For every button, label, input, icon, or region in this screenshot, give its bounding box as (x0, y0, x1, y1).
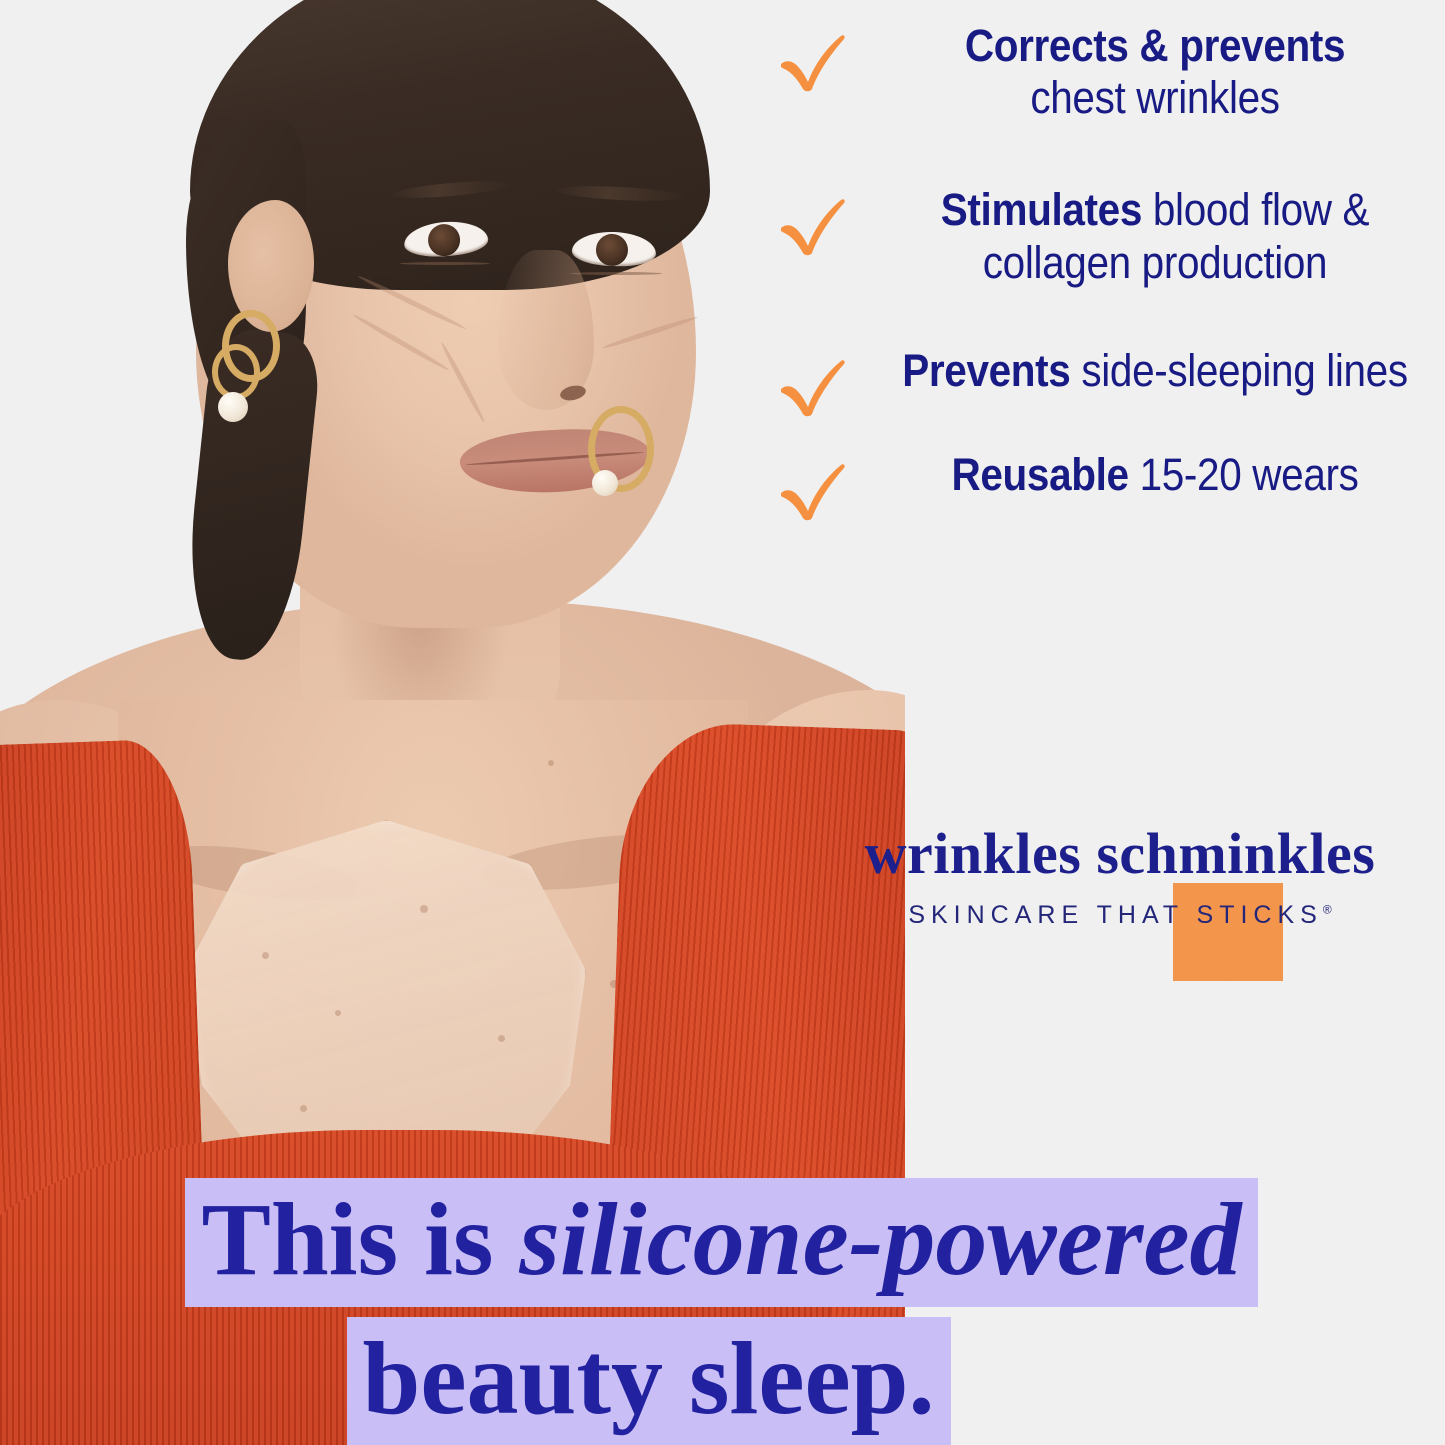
under-eye-line-left (400, 262, 490, 265)
skin-freckle (548, 760, 554, 766)
skin-freckle (335, 1010, 341, 1016)
benefit-text: Prevents side-sleeping lines (894, 345, 1416, 397)
earring-pearl-left (218, 392, 248, 422)
headline-text-plain: This is (201, 1182, 519, 1297)
registered-mark: ® (1323, 903, 1332, 917)
benefit-bold: Corrects & prevents (965, 20, 1345, 71)
check-icon (777, 194, 849, 256)
benefit-rest: chest wrinkles (1030, 72, 1279, 123)
headline-line-1: This is silicone-powered (0, 1178, 1445, 1307)
benefits-list: Corrects & preventschest wrinkles Stimul… (765, 20, 1445, 527)
under-eye-line-right (570, 272, 662, 275)
benefit-text: Stimulates blood flow & collagen product… (894, 184, 1416, 288)
logo-tagline-text: SKINCARE THAT STICKS (908, 901, 1323, 929)
iris-left (427, 223, 461, 257)
benefit-text: Reusable 15-20 wears (894, 449, 1416, 501)
headline-highlight-2: beauty sleep. (347, 1317, 951, 1445)
brand-logo: wrinkles schminkles SKINCARE THAT STICKS… (835, 825, 1405, 930)
skin-freckle (300, 1105, 307, 1112)
benefit-text: Corrects & preventschest wrinkles (894, 20, 1416, 124)
benefit-item-corrects-prevents: Corrects & preventschest wrinkles (765, 20, 1445, 124)
benefit-item-stimulates: Stimulates blood flow & collagen product… (765, 184, 1445, 288)
headline-text-italic: silicone-powered (519, 1182, 1241, 1297)
benefit-item-prevents: Prevents side-sleeping lines (765, 345, 1445, 397)
benefit-rest: 15-20 wears (1140, 449, 1359, 500)
logo-wordmark: wrinkles schminkles (835, 825, 1405, 883)
check-icon (777, 30, 849, 92)
skin-freckle (498, 1035, 505, 1042)
marketing-image-canvas: Corrects & preventschest wrinkles Stimul… (0, 0, 1445, 1445)
logo-tagline: SKINCARE THAT STICKS® (835, 901, 1405, 930)
benefits-panel: Corrects & preventschest wrinkles Stimul… (905, 0, 1445, 1180)
headline-highlight-1: This is silicone-powered (185, 1178, 1257, 1307)
silicone-patch-blob-icon (1173, 883, 1283, 981)
headline-block: This is silicone-powered beauty sleep. (0, 1178, 1445, 1445)
headline-line-2: beauty sleep. (0, 1317, 1445, 1445)
earring-pearl-right (592, 470, 618, 496)
iris-right (595, 233, 628, 266)
benefit-item-reusable: Reusable 15-20 wears (765, 449, 1445, 501)
check-icon (777, 459, 849, 521)
benefit-bold: Stimulates (941, 184, 1142, 235)
skin-freckle (262, 952, 269, 959)
skin-freckle (420, 905, 428, 913)
benefit-bold: Reusable (951, 449, 1128, 500)
check-icon (777, 355, 849, 417)
benefit-bold: Prevents (902, 345, 1070, 396)
benefit-rest: side-sleeping lines (1081, 345, 1407, 396)
